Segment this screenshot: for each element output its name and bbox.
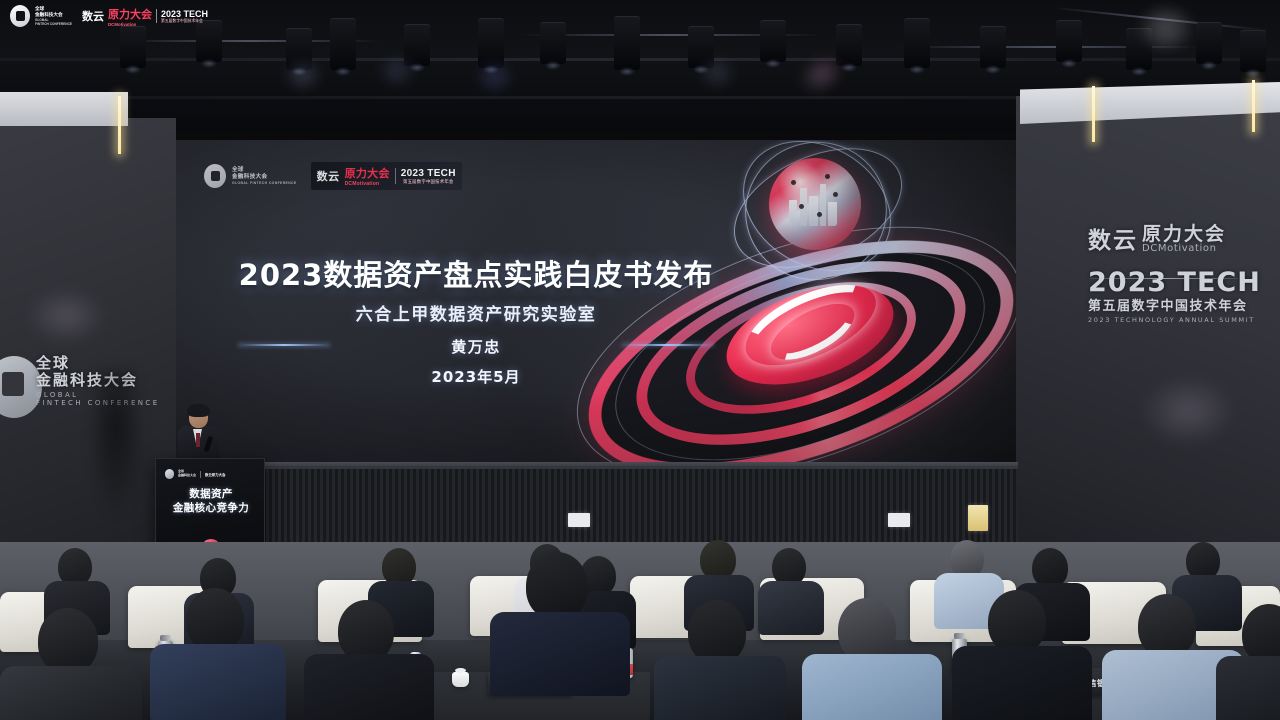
stage-light [980, 26, 1006, 68]
wall-right-summit-en: 2023 TECHNOLOGY ANNUAL SUMMIT [1088, 316, 1261, 324]
stage-light [1196, 22, 1222, 64]
watermark-tech-sub: 第五届数字中国技术年会 [161, 19, 208, 24]
back-wall-right: 数云 原力大会 DCMotivation 2023 TECH 第五届数字中国技术… [1016, 96, 1280, 596]
stage-placard-lit [968, 505, 988, 531]
podium-logo-cn2: 金融科技大会 [178, 474, 196, 478]
watermark-tech-year: 2023 TECH [161, 9, 208, 19]
wall-right-summit-cn: 第五届数字中国技术年会 [1088, 300, 1261, 315]
watermark-gfc-logo: 全球 金融科技大会 GLOBAL FINTECH CONFERENCE [10, 5, 72, 27]
stage-front-panel [176, 466, 1018, 542]
stage-light [330, 18, 356, 70]
wall-light-strip [1092, 86, 1095, 142]
watermark-gfc-en2: FINTECH CONFERENCE [35, 22, 72, 26]
main-led-screen: 全球 金融科技大会 GLOBAL FINTECH CONFERENCE 数云 原… [176, 140, 1016, 470]
gfc-mark-icon [10, 5, 30, 27]
stage-light [404, 24, 430, 66]
stage-placard [888, 513, 910, 527]
gfc-mark-icon [165, 469, 174, 479]
stage-light [760, 20, 786, 62]
stage-placard [568, 513, 590, 527]
wall-light-strip [1252, 80, 1255, 132]
tea-mug [452, 672, 469, 687]
wall-right-brand-cn: 数云 [1088, 229, 1138, 255]
ceiling-soffit-left [0, 92, 128, 126]
wall-light-strip [118, 96, 121, 154]
watermark-brand-red: 原力大会 [108, 6, 152, 22]
broadcast-watermark: 全球 金融科技大会 GLOBAL FINTECH CONFERENCE 数云 原… [10, 5, 208, 27]
podium-logo-bar: 全球 金融科技大会 数云原力大会 [165, 469, 225, 479]
stage-light [904, 18, 930, 68]
stage-light [1056, 20, 1082, 62]
stage-light [540, 22, 566, 64]
podium-logo-brand: 数云原力大会 [205, 472, 225, 477]
stage-light [120, 26, 146, 68]
stage-light [836, 24, 862, 66]
stage-light [614, 16, 640, 70]
conference-stage-scene: 全球 金融科技大会 GLOBAL FINTECH CONFERENCE 数云 原… [0, 0, 1280, 720]
watermark-brand-cn: 数云 [82, 8, 104, 24]
stage-light [478, 18, 504, 68]
watermark-brand-badge: 数云 原力大会 DCMotivation 2023 TECH 第五届数字中国技术… [82, 6, 208, 27]
stage-light [1240, 30, 1266, 72]
watermark-brand-sub: DCMotivation [108, 22, 152, 27]
podium-title-line1: 数据资产 [156, 487, 265, 501]
wall-right-year-tech: 2023 TECH [1088, 268, 1261, 298]
wall-right-brand-cn2: 原力大会 [1142, 224, 1226, 245]
wall-right-branding: 数云 原力大会 DCMotivation 2023 TECH 第五届数字中国技术… [1088, 224, 1261, 324]
back-wall-left: 全球 金融科技大会 GLOBAL FINTECH CONFERENCE [0, 118, 176, 600]
wall-right-brand-en: DCMotivation [1142, 243, 1226, 254]
podium-title-line2: 金融核心竞争力 [156, 501, 265, 515]
